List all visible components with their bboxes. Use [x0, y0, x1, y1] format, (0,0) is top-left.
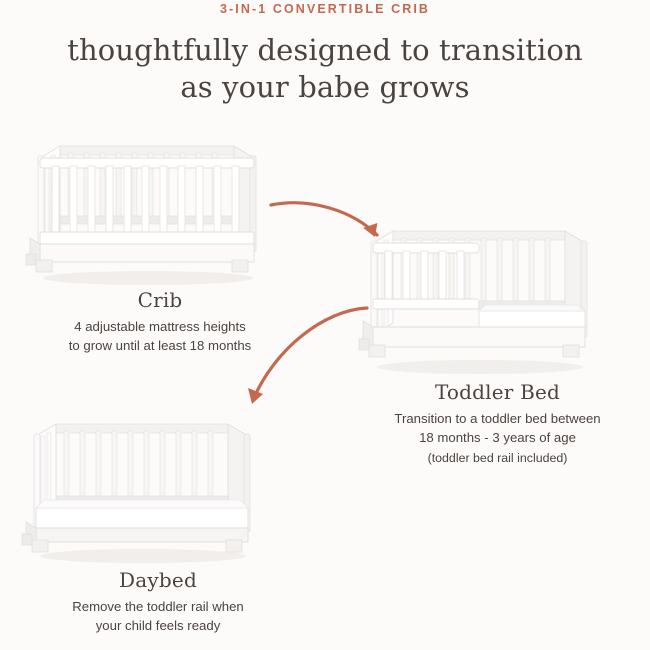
infographic-page: 3-IN-1 CONVERTIBLE CRIB thoughtfully des… — [0, 0, 650, 650]
daybed-description-line-2: your child feels ready — [96, 618, 221, 633]
toddler-bed-title: Toddler Bed — [355, 380, 640, 404]
crib-image — [20, 128, 300, 288]
arrow-toddler-to-daybed-icon — [215, 300, 375, 430]
daybed-illustration — [18, 408, 268, 568]
daybed-description-line-1: Remove the toddler rail when — [72, 599, 244, 614]
eyebrow-label: 3-IN-1 CONVERTIBLE CRIB — [0, 2, 650, 16]
toddler-bed-note: (toddler bed rail included) — [355, 449, 640, 467]
daybed-title: Daybed — [18, 568, 298, 592]
headline-line-2: as your babe grows — [0, 69, 650, 106]
headline-line-1: thoughtfully designed to transition — [67, 33, 583, 67]
toddler-bed-description-line-1: Transition to a toddler bed between — [394, 411, 600, 426]
page-title: thoughtfully designed to transition as y… — [0, 32, 650, 106]
stage-daybed: Daybed Remove the toddler rail when your… — [18, 408, 298, 635]
crib-illustration — [20, 128, 270, 288]
toddler-bed-description-line-2: 18 months - 3 years of age — [419, 430, 576, 445]
toddler-bed-description: Transition to a toddler bed between 18 m… — [355, 409, 640, 447]
daybed-description: Remove the toddler rail when your child … — [18, 597, 298, 635]
arrow-crib-to-toddler-icon — [265, 195, 405, 265]
daybed-image — [18, 408, 298, 568]
